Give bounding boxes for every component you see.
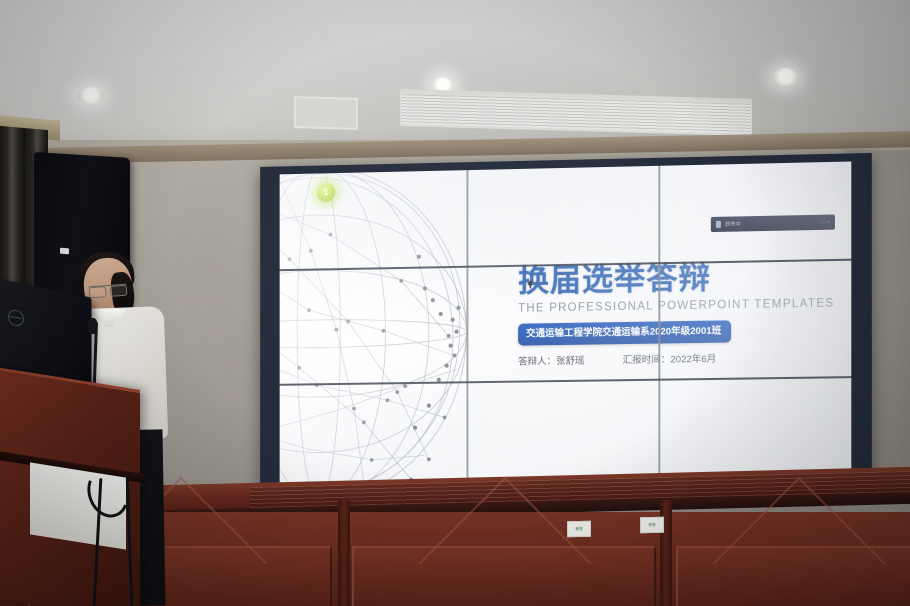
ceiling-access-panel: [294, 96, 358, 130]
downlight-left-icon: [78, 87, 104, 104]
network-globe-graphic: [280, 161, 487, 492]
downlight-center-icon: [432, 77, 454, 94]
slide-meta: 答辩人：张舒瑶 汇报时间：2022年6月: [518, 349, 821, 367]
speaker-led-icon: [60, 248, 69, 255]
video-wall-screens: 1 放映中 – □ × 换届选举答辩 THE PROFESSIONAL POWE…: [280, 161, 852, 492]
slide-date: 汇报时间：2022年6月: [623, 351, 717, 366]
cabinet-sticker: 标签: [640, 517, 664, 534]
cabinet-sticker: 标签: [567, 521, 591, 538]
wood-panel: [676, 546, 910, 606]
wood-panel: [352, 546, 656, 606]
slide-subtitle: THE PROFESSIONAL POWERPOINT TEMPLATES: [518, 298, 821, 315]
conference-room-photo: 1 放映中 – □ × 换届选举答辩 THE PROFESSIONAL POWE…: [0, 0, 910, 606]
downlight-right-icon: [773, 68, 798, 86]
slide-department-banner: 交通运输工程学院交通运输系2020年级2001班: [518, 321, 731, 346]
presenter-glasses-icon: [89, 284, 128, 297]
presenter-icon: [716, 221, 721, 228]
slide-text-block: 换届选举答辩 THE PROFESSIONAL POWERPOINT TEMPL…: [518, 259, 821, 368]
video-wall[interactable]: 1 放映中 – □ × 换届选举答辩 THE PROFESSIONAL POWE…: [260, 153, 872, 498]
presentation-slide: 1 放映中 – □ × 换届选举答辩 THE PROFESSIONAL POWE…: [280, 161, 852, 492]
panel-seam: [338, 500, 350, 606]
bezel-vertical-1: [466, 170, 468, 491]
slide-presenter: 答辩人：张舒瑶: [518, 353, 584, 368]
toolbar-label: 放映中: [725, 219, 814, 228]
bezel-vertical-2: [658, 166, 660, 489]
presentation-toolbar[interactable]: 放映中 – □ ×: [711, 214, 835, 232]
window-controls[interactable]: – □ ×: [818, 219, 830, 225]
